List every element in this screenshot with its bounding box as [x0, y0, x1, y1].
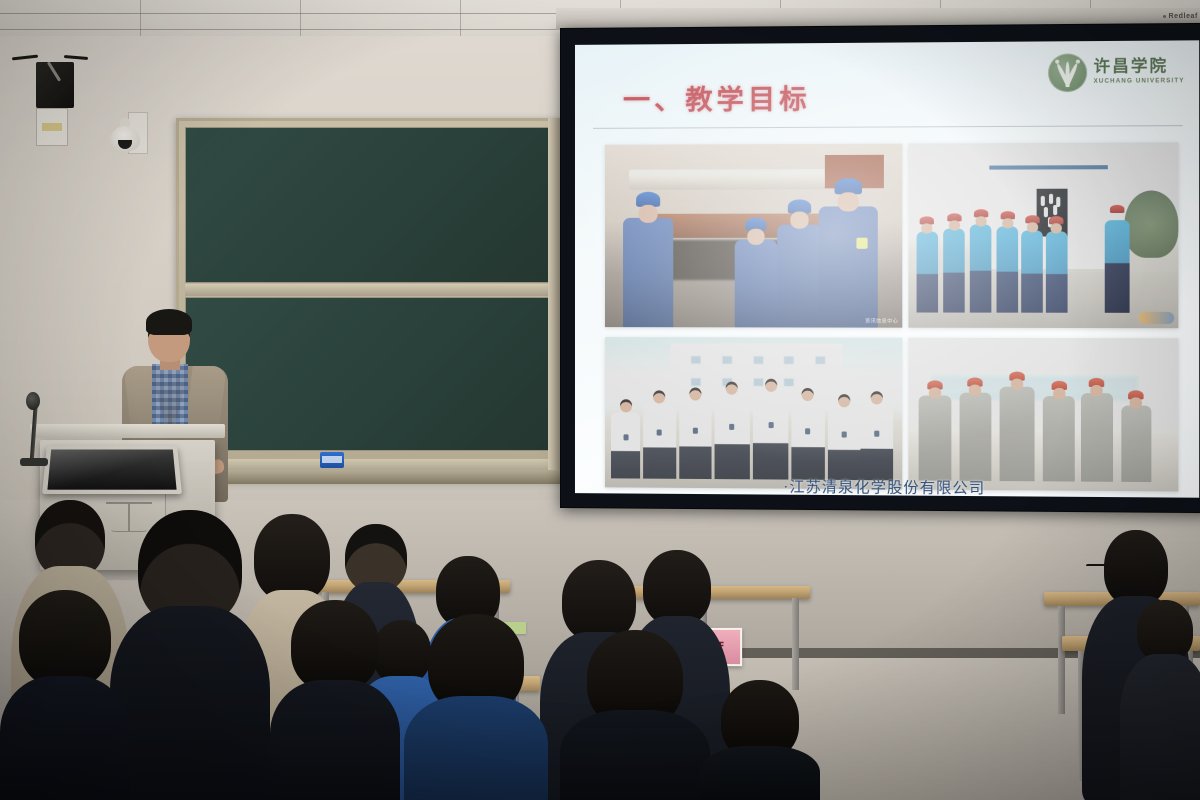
podium-monitor[interactable] [42, 446, 182, 494]
presentation-slide: 一、教学目标 许昌学院 XUCHANG UNIVERSITY [575, 40, 1199, 497]
audience-member [1120, 600, 1200, 800]
audience-member [270, 600, 400, 800]
audience-member [0, 590, 130, 800]
wall-plate [36, 108, 68, 146]
slide-caption: ·江苏清泉化学股份有限公司 [575, 474, 1199, 498]
audience-member [404, 614, 548, 800]
blackboard-panel-top [185, 127, 559, 283]
photo-logo-icon [1139, 312, 1174, 324]
blackboard [176, 118, 562, 480]
slide-photo-bottom-left [605, 337, 902, 489]
microphone-icon[interactable] [26, 392, 40, 410]
brand-dot-icon [1163, 15, 1166, 18]
slide-title: 一、教学目标 [623, 77, 811, 117]
podium-desktop [30, 424, 225, 438]
university-name-cn: 许昌学院 [1094, 59, 1185, 77]
slide-photo-bottom-right [908, 338, 1178, 492]
microphone-base [20, 458, 48, 466]
audience-member [110, 510, 270, 800]
photo-watermark: 资讯信息中心 [865, 317, 898, 324]
title-divider [593, 125, 1183, 129]
blackboard-panel-bottom [185, 297, 559, 451]
wireless-access-point [36, 62, 74, 108]
university-logo: 许昌学院 XUCHANG UNIVERSITY [1048, 53, 1184, 93]
dome-security-camera-icon [110, 118, 140, 152]
audience-member [700, 680, 820, 800]
slide-photo-top-left: 资讯信息中心 [605, 144, 902, 328]
lecture-hall-scene: Redleaf 一、教学目标 许昌学院 XUCHANG UNIVERSITY [0, 0, 1200, 800]
screen-brand-label: Redleaf [1163, 13, 1199, 20]
blackboard-divider [185, 284, 559, 296]
blackboard-shelf [170, 470, 570, 484]
brand-name: Redleaf [1169, 13, 1199, 20]
eyeglasses-icon [1086, 564, 1108, 569]
audience-member [560, 630, 710, 800]
projection-screen: 一、教学目标 许昌学院 XUCHANG UNIVERSITY [560, 23, 1200, 513]
slide-photo-top-right [908, 142, 1178, 328]
presenter-hair [146, 309, 192, 335]
university-name-en: XUCHANG UNIVERSITY [1094, 78, 1185, 85]
university-logo-mark-icon [1048, 53, 1087, 92]
chalk-box [320, 452, 344, 468]
